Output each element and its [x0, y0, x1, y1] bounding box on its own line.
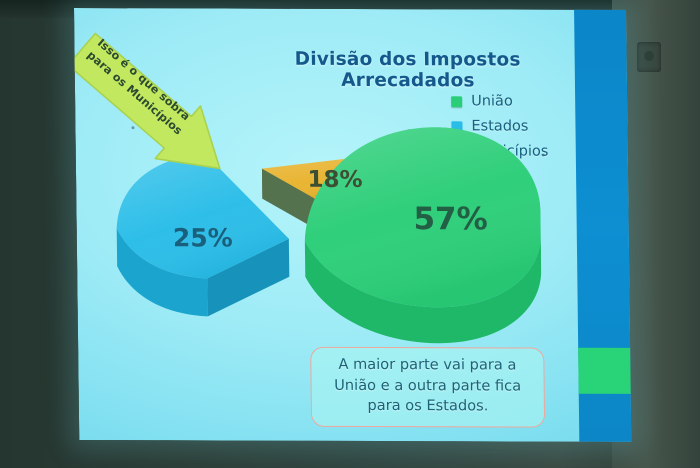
bottom-callout-line-3: para os Estados. [322, 396, 534, 417]
bottom-callout-line-1: A maior parte vai para a [321, 355, 533, 376]
projected-slide: Divisão dos Impostos Arrecadados União E… [74, 8, 631, 442]
pie-label-estados: 25% [173, 223, 233, 252]
pie-label-uniao: 57% [413, 201, 488, 237]
page-title: Divisão dos Impostos Arrecadados [243, 49, 574, 92]
slide-side-band-accent [578, 348, 631, 394]
bottom-callout-line-2: União e a outra parte fica [322, 376, 534, 397]
pie-label-municipios: 18% [307, 167, 362, 193]
bottom-callout-box: A maior parte vai para a União e a outra… [310, 347, 545, 428]
wall-socket [637, 42, 661, 72]
